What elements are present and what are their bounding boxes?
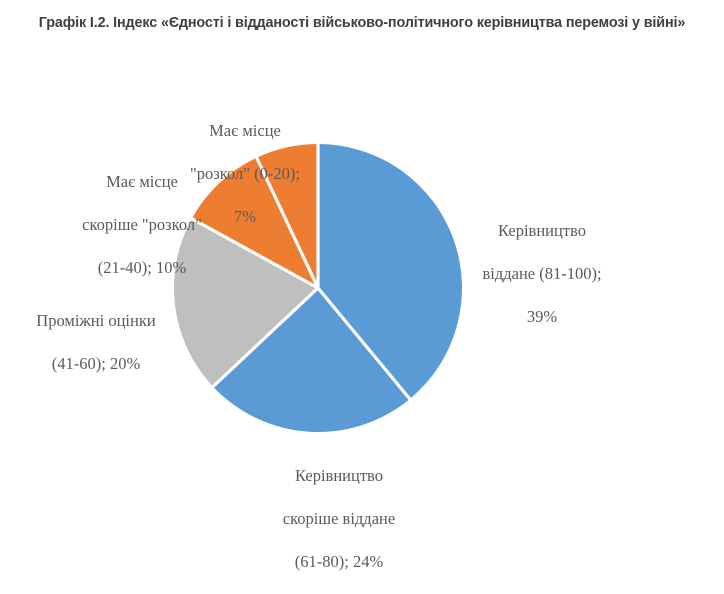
pie-label-value: 7% — [162, 206, 328, 228]
pie-label-line: Керівництво — [254, 465, 424, 487]
pie-label-value: (21-40); 10% — [54, 257, 230, 279]
pie-label-line: Проміжні оцінки — [8, 310, 184, 332]
pie-label-maye-mistse-rozkol: Має місце "розкол" (0-20); 7% — [162, 98, 328, 249]
pie-label-line: віддане (81-100); — [456, 263, 628, 285]
pie-label-promizhni-otsinky: Проміжні оцінки (41-60); 20% — [8, 288, 184, 396]
pie-chart-figure: Графік I.2. Індекс «Єдності і відданості… — [0, 0, 724, 554]
pie-label-line: "розкол" (0-20); — [162, 163, 328, 185]
pie-label-line: Керівництво — [456, 220, 628, 242]
pie-label-kerivnytstvo-viddane: Керівництво віддане (81-100); 39% — [456, 198, 628, 349]
pie-label-value: 39% — [456, 306, 628, 328]
pie-label-value: (41-60); 20% — [8, 353, 184, 375]
pie-label-line: Має місце — [162, 120, 328, 142]
pie-label-kerivnytstvo-skorishe-viddane: Керівництво скоріше віддане (61-80); 24% — [254, 443, 424, 594]
pie-label-line: скоріше віддане — [254, 508, 424, 530]
